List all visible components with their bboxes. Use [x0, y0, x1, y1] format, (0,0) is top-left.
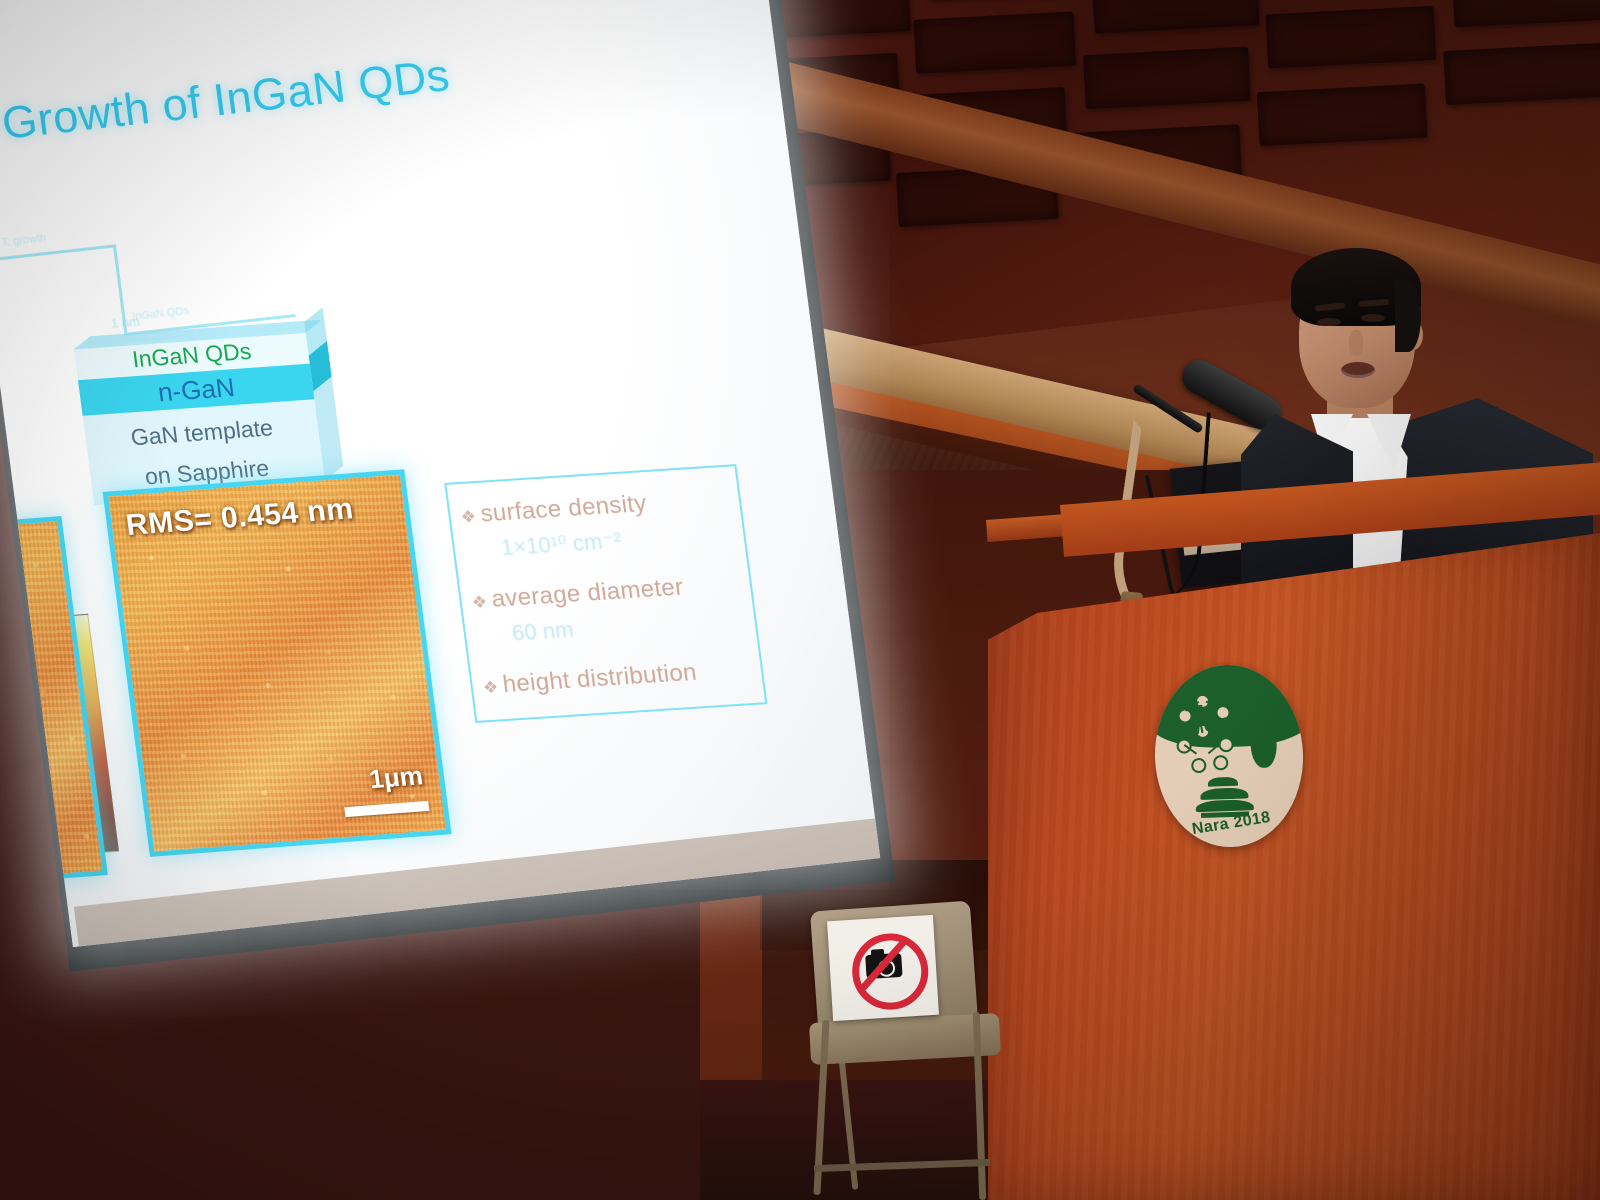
chair-rail	[814, 1159, 990, 1172]
slide-title: Growth of InGaN QDs	[0, 49, 453, 150]
podium-wood-grain	[988, 533, 1600, 1200]
mouth	[1341, 362, 1375, 378]
bullet-label-1: surface density	[479, 490, 648, 528]
bullet-item-3: ❖height distribution	[481, 655, 757, 700]
podium	[988, 533, 1600, 1200]
bullet-marker-icon: ❖	[482, 677, 505, 698]
eye-right	[1361, 314, 1385, 322]
conference-photo-scene: Growth of InGaN QDs T, growth InGaN QDs …	[0, 0, 1600, 1200]
bullet-label-3: height distribution	[501, 659, 698, 698]
slide-bullet-box: ❖surface density 1×10¹⁰ cm⁻² ❖average di…	[444, 464, 767, 723]
nose	[1349, 330, 1363, 356]
hair-side	[1395, 280, 1421, 352]
afm-image-main: RMS= 0.454 nm 1μm	[103, 469, 452, 857]
afm-scale-label: 1μm	[367, 760, 424, 795]
folding-chair	[800, 900, 1030, 1200]
no-camera-sign	[827, 915, 939, 1021]
eye-left	[1317, 318, 1341, 326]
screen-surface: Growth of InGaN QDs T, growth InGaN QDs …	[0, 0, 880, 947]
projection-screen: Growth of InGaN QDs T, growth InGaN QDs …	[0, 0, 895, 972]
bullet-label-2: average diameter	[490, 574, 685, 613]
bullet-marker-icon: ❖	[460, 507, 483, 528]
slide-content: Growth of InGaN QDs T, growth InGaN QDs …	[0, 0, 880, 947]
bullet-marker-icon: ❖	[471, 592, 494, 613]
growth-profile-bottom-label: InGaN QDs	[132, 305, 190, 323]
layer-stack-tag: 1 nm	[110, 314, 141, 331]
no-camera-icon	[850, 931, 930, 1011]
growth-profile-top-label: T, growth	[1, 232, 47, 249]
